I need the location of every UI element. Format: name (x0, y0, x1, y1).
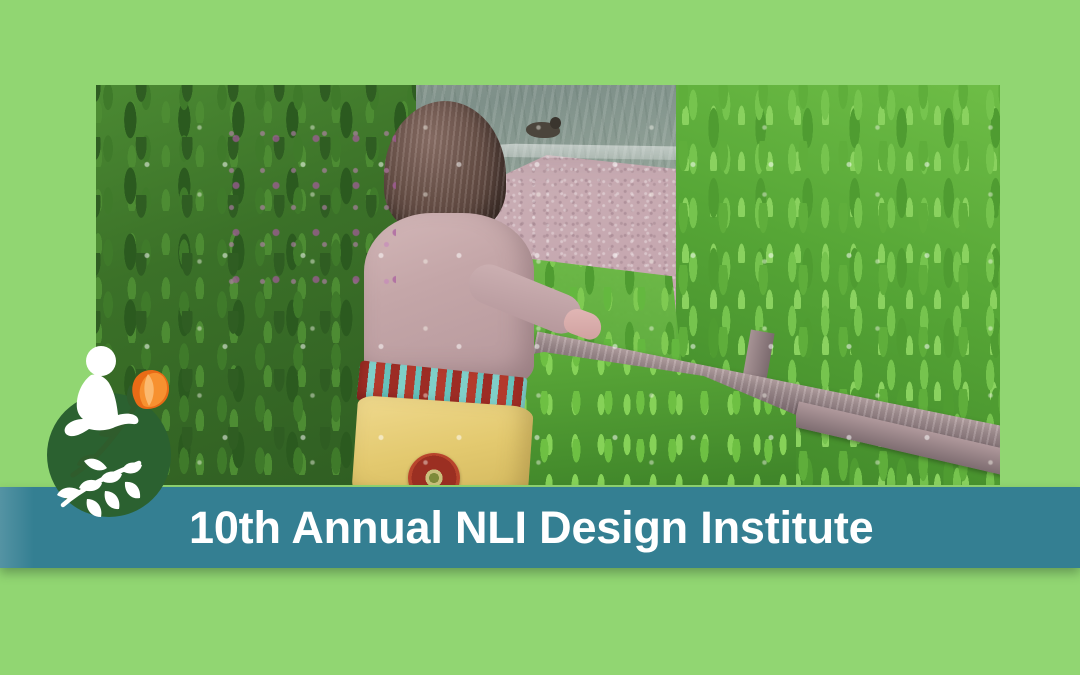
logo-artwork (47, 343, 171, 517)
child-silhouette-icon (65, 346, 139, 436)
hero-photo (96, 85, 1000, 485)
photo-scene (96, 85, 1000, 485)
white-flowers (96, 85, 1000, 485)
leafy-branch-icon (57, 459, 142, 517)
orange-flower-icon (132, 370, 169, 409)
page-title: 10th Annual NLI Design Institute (189, 487, 873, 568)
slide-canvas: 10th Annual NLI Design Institute (0, 0, 1080, 675)
nli-logo[interactable] (47, 343, 171, 517)
